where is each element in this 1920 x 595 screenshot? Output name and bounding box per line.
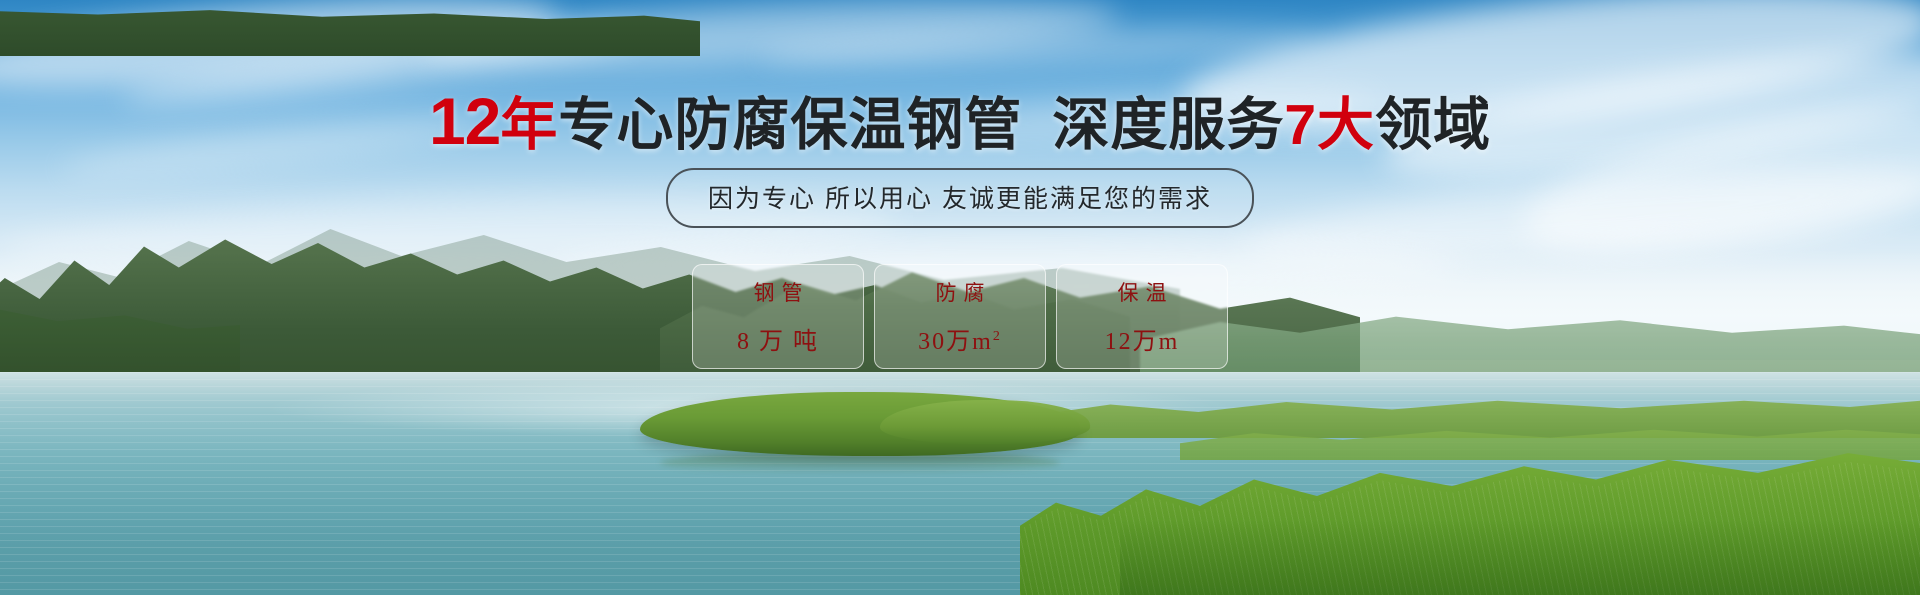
stat-card-value: 12万m	[1105, 321, 1180, 356]
stats-card-group: 钢管 8 万 吨 防腐 30万m2 保温 12万m	[0, 264, 1920, 369]
headline-part-three: 领域	[1375, 93, 1491, 157]
banner-content: 12年专心防腐保温钢管深度服务7大领域 因为专心 所以用心 友诚更能满足您的需求…	[0, 0, 1920, 595]
headline-part-one: 专心防腐保温钢管	[558, 93, 1022, 157]
stat-card-label: 保温	[1111, 277, 1174, 307]
banner-headline: 12年专心防腐保温钢管深度服务7大领域	[0, 86, 1920, 157]
headline-highlight: 7大	[1284, 93, 1375, 157]
stat-value-superscript: 2	[993, 329, 1002, 344]
stat-card-label: 防腐	[929, 277, 992, 307]
stat-card-label: 钢管	[747, 277, 810, 307]
stat-card-insulation[interactable]: 保温 12万m	[1056, 264, 1228, 369]
stat-value-main: 12万m	[1105, 329, 1180, 355]
hero-banner: 12年专心防腐保温钢管深度服务7大领域 因为专心 所以用心 友诚更能满足您的需求…	[0, 0, 1920, 595]
stat-value-main: 30万m	[918, 329, 993, 355]
stat-card-value: 8 万 吨	[737, 321, 819, 356]
stat-card-steel-pipe[interactable]: 钢管 8 万 吨	[692, 264, 864, 369]
stat-card-value: 30万m2	[918, 321, 1002, 356]
headline-number-unit: 年	[500, 93, 558, 157]
stat-value-main: 8 万 吨	[737, 329, 819, 355]
stat-card-anticorrosion[interactable]: 防腐 30万m2	[874, 264, 1046, 369]
headline-number: 12	[429, 84, 500, 158]
banner-subtitle-pill: 因为专心 所以用心 友诚更能满足您的需求	[666, 168, 1254, 228]
banner-subtitle-container: 因为专心 所以用心 友诚更能满足您的需求	[0, 168, 1920, 228]
headline-part-two: 深度服务	[1052, 93, 1284, 157]
